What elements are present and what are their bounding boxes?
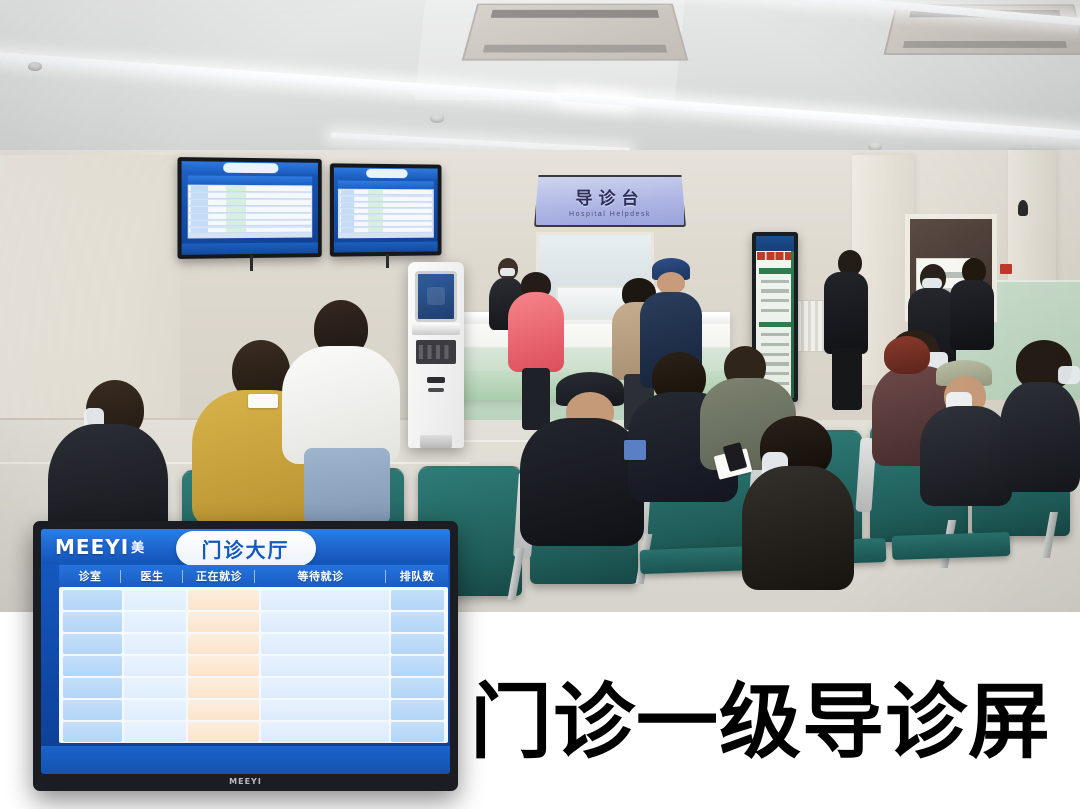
torso-leather-jacket [742,466,854,590]
cell-room [63,700,122,720]
meeyi-logo-text: MEEYI [55,535,129,559]
inset-header: MEEYI 美 门诊大厅 [41,529,450,564]
cell-queue [391,700,444,720]
cell-now [226,200,246,205]
wall-queue-display-right [330,163,442,256]
legs-jeans [304,448,390,524]
cell-now [226,193,246,198]
cell-room [341,215,354,219]
ac-vent-left [462,4,689,61]
cell-now [226,221,246,226]
table-row [340,203,433,208]
cell-waiting [261,590,389,610]
cell-room [341,196,354,200]
cell-room [63,656,122,676]
security-camera-icon [1018,200,1028,216]
cell-room [191,214,208,219]
directory-red-banner [757,252,793,260]
table-row [189,200,311,206]
table-row[interactable] [63,634,444,654]
inset-column-headers: 诊室 医生 正在就诊 等待就诊 排队数 [59,565,448,587]
kiosk-base [420,435,451,448]
table-row[interactable] [63,678,444,698]
cell-room [191,186,208,191]
cell-now [188,700,259,720]
cell-queue [391,634,444,654]
face-mask [1058,366,1080,384]
cell-room [63,612,122,632]
queue-screen-right-title-pill [366,169,407,178]
queue-screen-left [182,161,318,255]
cell-now [368,203,383,207]
cell-now [368,190,383,194]
queue-screen-left-table [187,175,312,239]
cell-doctor [124,590,185,610]
legs [832,348,862,410]
cell-queue [391,656,444,676]
table-row[interactable] [63,656,444,676]
cell-now [226,228,246,233]
inset-title-text: 门诊大厅 [202,538,290,562]
cell-now [188,678,259,698]
column-header-room: 诊室 [59,568,121,584]
directory-section-title [759,322,791,328]
cell-waiting [261,612,389,632]
cell-waiting [261,656,389,676]
table-row[interactable] [63,612,444,632]
cell-room [191,221,208,226]
cell-queue [391,722,444,742]
torso-white-jacket [282,346,400,464]
table-row [189,193,311,199]
cell-room [191,207,208,212]
kiosk-card-slot[interactable] [427,377,445,383]
smoke-detector-2 [430,114,444,123]
directory-entry [761,299,790,302]
torso-pink-coat [508,292,564,372]
kiosk-keypad[interactable] [416,340,456,364]
meeyi-logo: MEEYI 美 [55,535,144,559]
meeyi-logo-mark: 美 [131,537,144,556]
directory-entry [761,333,790,336]
column-header-queue: 排队数 [386,568,448,584]
inset-queue-table [59,587,448,743]
hair [884,336,930,374]
torso [824,272,868,354]
screenshot-root: 导诊台 Hospital Helpdesk [0,0,1080,809]
cell-now [368,197,383,201]
table-row [189,214,311,220]
cell-queue [391,612,444,632]
table-row[interactable] [63,590,444,610]
table-row [340,190,433,196]
cell-queue [391,590,444,610]
kiosk-printer-slot [428,388,444,392]
cell-queue [391,678,444,698]
table-row [189,227,311,233]
cell-doctor [124,700,185,720]
cell-room [191,200,208,205]
table-row [340,209,433,214]
table-row [340,228,433,234]
cell-now [368,222,383,226]
helpdesk-sign-chinese: 导诊台 [576,184,645,209]
table-row [189,207,311,213]
badge [624,440,646,460]
cell-room [341,209,354,213]
cell-room [191,193,208,198]
wall-queue-display-left [177,157,321,259]
self-service-kiosk[interactable] [408,262,464,448]
table-row[interactable] [63,700,444,720]
column-header-doctor: 医生 [121,568,183,584]
cell-doctor [124,722,185,742]
cell-now [188,722,259,742]
cell-waiting [261,700,389,720]
cell-doctor [124,656,185,676]
column-header-now: 正在就诊 [183,568,255,584]
table-row [189,186,311,192]
kiosk-screen[interactable] [415,271,458,321]
cell-waiting [261,722,389,742]
head [657,272,685,294]
cell-room [341,190,354,194]
helpdesk-sign-english: Hospital Helpdesk [569,211,651,218]
directory-entry [761,280,790,283]
cell-now [226,207,246,212]
cell-now [188,634,259,654]
torso [920,406,1012,506]
directory-side-strip [791,251,794,398]
column-header-waiting: 等待就诊 [255,568,386,584]
cell-now [226,186,246,191]
cell-now [368,215,383,219]
directory-section-title [759,268,791,274]
caption-title: 门诊一级导诊屏 [470,655,1070,774]
cell-now [188,656,259,676]
inset-title-pill: 门诊大厅 [176,531,316,566]
monitor-bezel: MEEYI [41,774,450,789]
cell-doctor [124,612,185,632]
cell-now [188,590,259,610]
cell-now [226,214,246,219]
fire-alarm-icon [1000,264,1012,274]
chair-seatpan [892,532,1011,560]
smoke-detector-1 [28,62,42,71]
torso [950,280,994,350]
queue-screen-left-colhdr [187,175,312,185]
cell-room [63,722,122,742]
legs [522,368,550,430]
cell-room [341,222,354,226]
cell-room [63,634,122,654]
queue-screen-left-title-pill [224,163,279,173]
cell-room [63,678,122,698]
table-row [340,196,433,201]
cell-now [368,209,383,213]
table-row [340,222,433,227]
cell-room [191,228,208,233]
directory-entry [761,289,790,292]
queue-screen-right-table [338,180,433,238]
queue-screen-right [334,167,438,252]
table-row [189,221,311,227]
cell-doctor [124,678,185,698]
queue-screen-left-footer [182,242,318,254]
tv-mount-right [386,254,389,268]
helpdesk-sign: 导诊台 Hospital Helpdesk [534,175,686,227]
table-row[interactable] [63,722,444,742]
inset-footer-bar [41,746,450,774]
torso [520,418,644,546]
torso [1000,382,1080,492]
table-row [340,215,433,220]
bezel-logo-text: MEEYI [229,777,262,786]
inset-screen: MEEYI 美 门诊大厅 诊室 医生 正在就诊 等待就诊 排队数 [41,529,450,774]
cell-waiting [261,678,389,698]
collar-tag [248,394,278,408]
cell-room [63,590,122,610]
directory-entry [761,353,790,356]
directory-header [756,236,794,251]
directory-entry [761,309,790,312]
directory-entry [761,343,790,346]
kiosk-shelf [412,323,459,334]
cell-now [188,612,259,632]
queue-screen-right-colhdr [338,180,433,189]
tv-mount-left [250,255,253,271]
inset-display-monitor: MEEYI 美 门诊大厅 诊室 医生 正在就诊 等待就诊 排队数 [33,521,458,791]
face-mask [500,268,515,276]
queue-screen-right-footer [334,241,438,252]
cell-waiting [261,634,389,654]
cell-now [368,228,383,232]
cell-room [341,203,354,207]
cell-doctor [124,634,185,654]
cell-room [341,228,354,232]
